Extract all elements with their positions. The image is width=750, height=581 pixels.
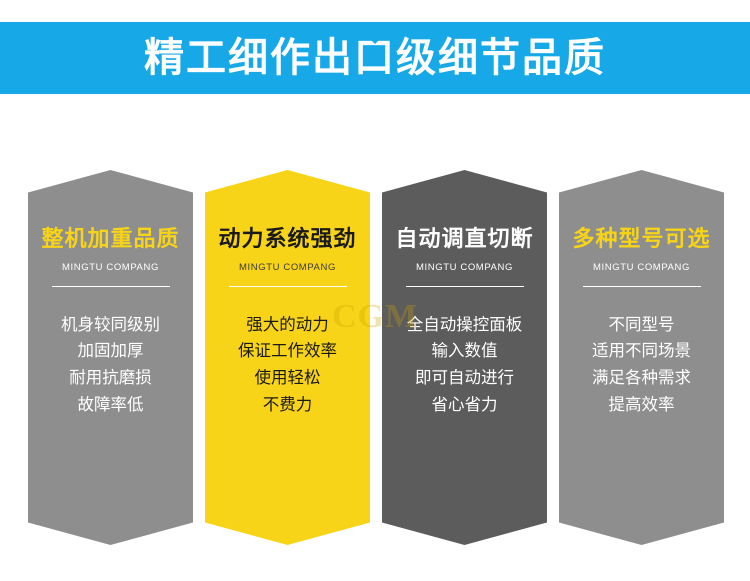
feature-card-3-subtitle: MINGTU COMPANG <box>416 263 513 273</box>
feature-card-2-subtitle: MINGTU COMPANG <box>239 263 336 273</box>
feature-card-1-divider <box>52 286 170 287</box>
feature-card-2: 动力系统强劲 MINGTU COMPANG 强大的动力 保证工作效率 使用轻松 … <box>205 170 370 545</box>
feature-card-4-title: 多种型号可选 <box>572 228 710 250</box>
feature-card-3-body: 全自动操控面板 输入数值 即可自动进行 省心省力 <box>407 312 523 419</box>
feature-card-4: 多种型号可选 MINGTU COMPANG 不同型号 适用不同场景 满足各种需求… <box>559 170 724 545</box>
feature-card-1-body: 机身较同级别 加固加厚 耐用抗磨损 故障率低 <box>61 312 160 419</box>
banner-notch-icon <box>353 22 397 44</box>
feature-card-1: 整机加重品质 MINGTU COMPANG 机身较同级别 加固加厚 耐用抗磨损 … <box>28 170 193 545</box>
feature-card-2-title: 动力系统强劲 <box>218 228 356 250</box>
feature-card-3-divider <box>406 286 524 287</box>
feature-card-1-title: 整机加重品质 <box>41 228 179 250</box>
header-banner: 精工细作出口级细节品质 <box>0 22 750 94</box>
feature-card-1-subtitle: MINGTU COMPANG <box>62 263 159 273</box>
banner-title: 精工细作出口级细节品质 <box>144 38 606 78</box>
feature-cards: 整机加重品质 MINGTU COMPANG 机身较同级别 加固加厚 耐用抗磨损 … <box>0 170 750 550</box>
feature-card-2-divider <box>229 286 347 287</box>
feature-card-2-body: 强大的动力 保证工作效率 使用轻松 不费力 <box>238 312 337 419</box>
feature-card-4-subtitle: MINGTU COMPANG <box>593 263 690 273</box>
feature-card-3-title: 自动调直切断 <box>395 228 533 250</box>
feature-card-3: 自动调直切断 MINGTU COMPANG 全自动操控面板 输入数值 即可自动进… <box>382 170 547 545</box>
feature-card-4-divider <box>583 286 701 287</box>
feature-card-4-body: 不同型号 适用不同场景 满足各种需求 提高效率 <box>592 312 691 419</box>
